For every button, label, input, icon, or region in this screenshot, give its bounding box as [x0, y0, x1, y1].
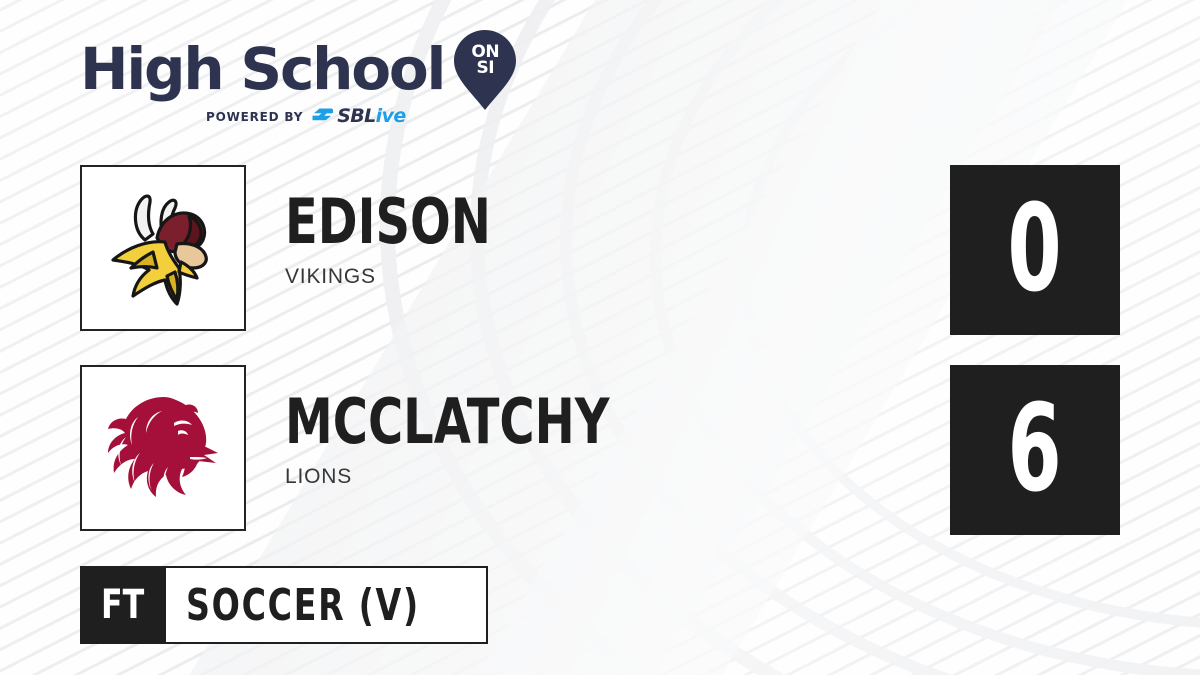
team-score: 6	[1008, 390, 1062, 510]
sblive-logo: SBLive	[312, 107, 405, 126]
team-mascot: LIONS	[285, 465, 985, 489]
brand-logo-lockup: High School ON SI POWERED BY SBLive	[80, 36, 510, 136]
game-sport-label-box: SOCCER (V)	[166, 566, 488, 644]
brand-wordmark: High School	[80, 40, 444, 98]
scoreboard-graphic: High School ON SI POWERED BY SBLive	[0, 0, 1200, 675]
team-info: MCCLATCHY LIONS	[285, 393, 985, 489]
map-pin-icon: ON SI	[454, 30, 516, 110]
pin-label-line2: SI	[454, 60, 516, 76]
team-info: EDISON VIKINGS	[285, 193, 985, 289]
team-score-box: 6	[950, 365, 1120, 535]
sblive-wordmark-dark: SBL	[337, 105, 375, 127]
team-score-box: 0	[950, 165, 1120, 335]
game-sport-label: SOCCER (V)	[186, 580, 420, 631]
game-status-code-label: FT	[101, 582, 144, 628]
team-name: EDISON	[285, 193, 887, 252]
viking-head-logo	[93, 178, 233, 318]
brand-wordmark-row: High School ON SI	[80, 36, 510, 102]
game-status-code: FT	[80, 566, 166, 644]
powered-by-row: POWERED BY SBLive	[80, 107, 510, 126]
sblive-wordmark: SBLive	[337, 107, 405, 126]
lion-head-logo	[98, 383, 228, 513]
pin-label: ON SI	[454, 44, 516, 76]
team-logo-box	[80, 365, 246, 531]
team-mascot: VIKINGS	[285, 265, 985, 289]
team-name: MCCLATCHY	[285, 393, 887, 452]
team-score: 0	[1008, 190, 1062, 310]
game-status-bar: FT SOCCER (V)	[80, 566, 488, 644]
sblive-wordmark-accent: ive	[376, 105, 406, 127]
team-logo-box	[80, 165, 246, 331]
powered-by-label: POWERED BY	[206, 110, 303, 124]
sblive-s-icon	[312, 108, 334, 125]
